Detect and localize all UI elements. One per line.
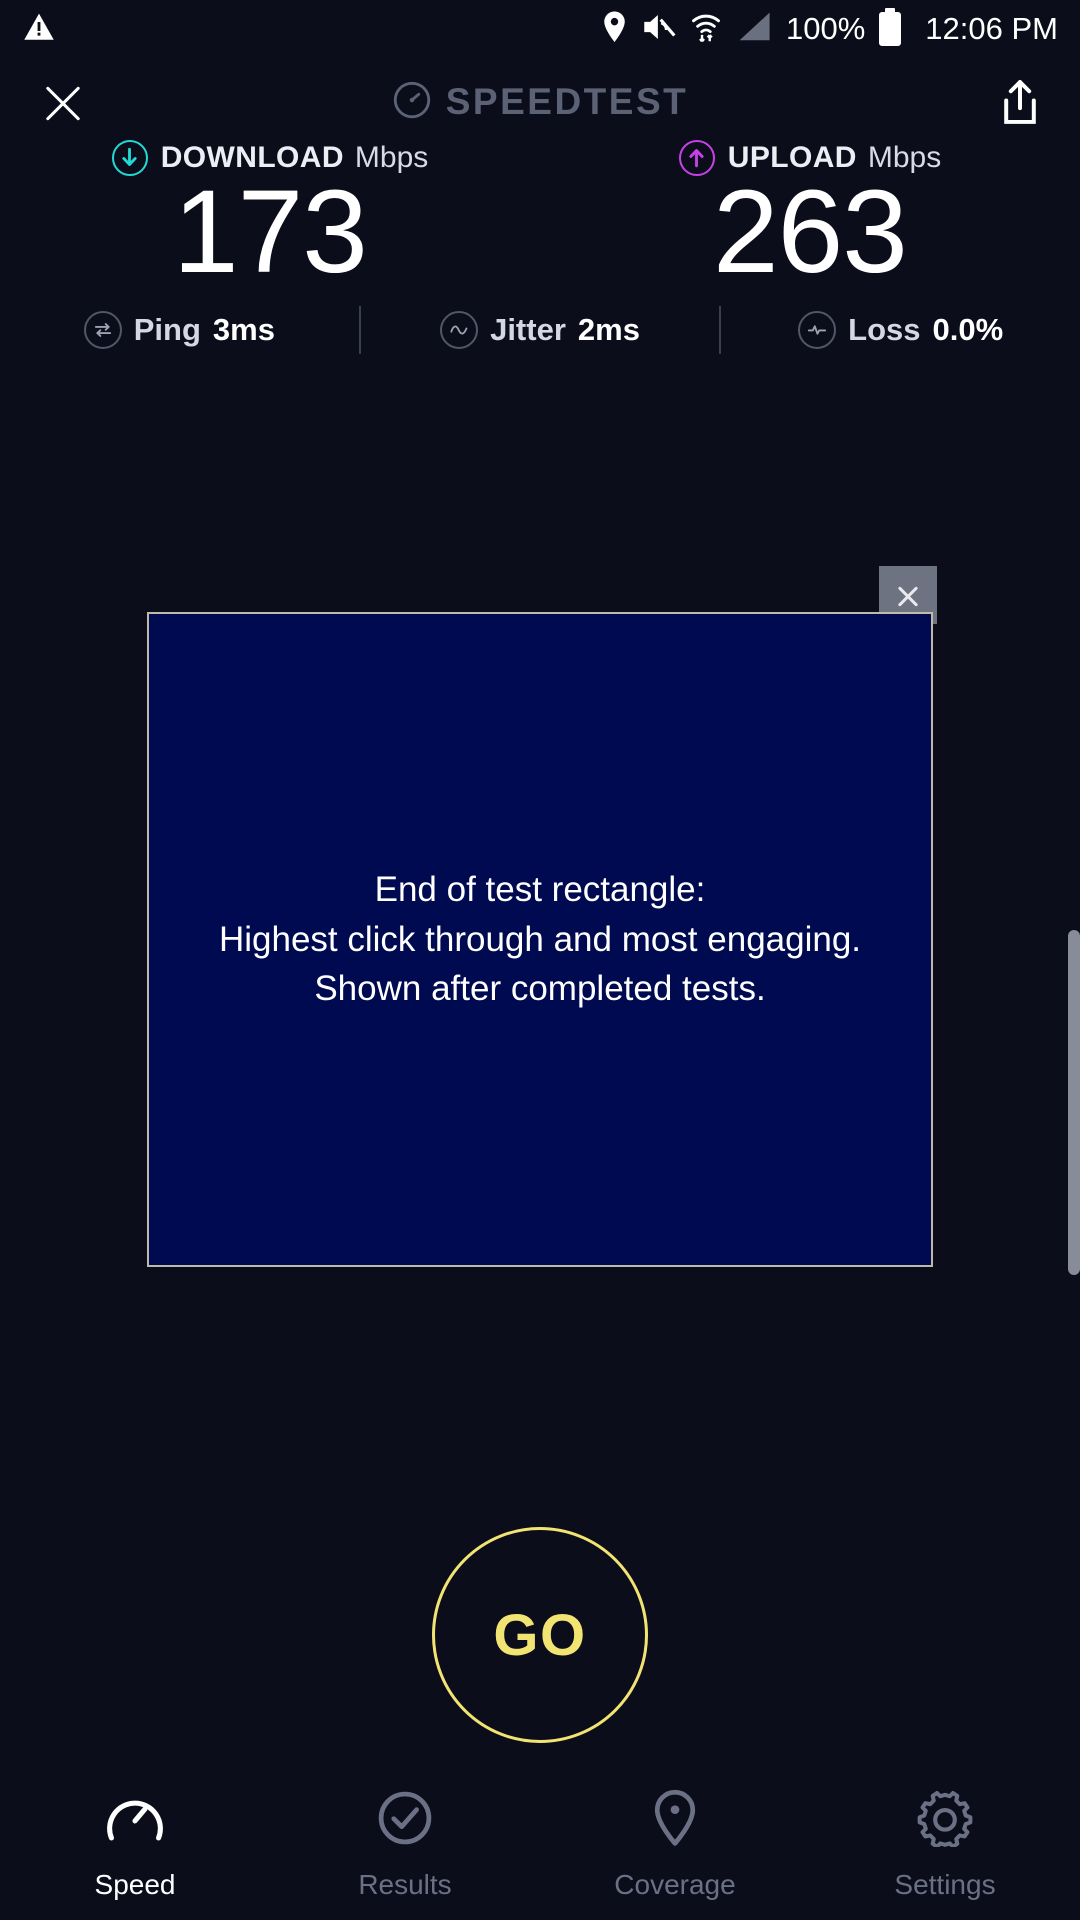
- status-bar-right: 100% 12:06 PM: [601, 10, 1058, 49]
- battery-full-icon: [879, 12, 901, 46]
- warning-triangle-icon: [22, 10, 56, 49]
- nav-item-coverage-label: Coverage: [614, 1869, 735, 1901]
- download-result: DOWNLOAD Mbps 173: [0, 140, 540, 294]
- advertisement-text: End of test rectangle: Highest click thr…: [219, 865, 861, 1014]
- metric-ping-label: Ping: [134, 312, 201, 348]
- nav-item-coverage[interactable]: Coverage: [540, 1770, 810, 1920]
- metric-jitter-value: 2ms: [578, 312, 640, 348]
- metric-jitter-label: Jitter: [490, 312, 566, 348]
- gear-icon: [916, 1789, 974, 1852]
- scrollbar-thumb[interactable]: [1068, 930, 1080, 1275]
- status-bar-clock: 12:06 PM: [925, 11, 1058, 47]
- nav-item-speed-label: Speed: [95, 1869, 176, 1901]
- metric-ping-value: 3ms: [213, 312, 275, 348]
- close-icon: [895, 582, 921, 608]
- nav-item-results[interactable]: Results: [270, 1770, 540, 1920]
- nav-item-settings[interactable]: Settings: [810, 1770, 1080, 1920]
- mute-icon: [642, 11, 676, 48]
- advertisement-banner[interactable]: End of test rectangle: Highest click thr…: [147, 612, 933, 1267]
- speedometer-icon: [104, 1789, 166, 1852]
- upload-speed-value: 263: [713, 172, 907, 294]
- share-icon[interactable]: [1000, 79, 1040, 125]
- wifi-icon: [690, 10, 722, 49]
- battery-percent-label: 100%: [786, 11, 865, 47]
- status-bar-left: [22, 10, 56, 49]
- status-bar: 100% 12:06 PM: [0, 0, 1080, 58]
- download-speed-value: 173: [173, 172, 367, 294]
- map-pin-icon: [650, 1789, 700, 1852]
- nav-item-settings-label: Settings: [894, 1869, 995, 1901]
- jitter-wave-icon: [440, 311, 478, 349]
- go-button-label: GO: [493, 1602, 586, 1669]
- close-icon[interactable]: [40, 79, 86, 125]
- cellular-signal-icon: [736, 10, 772, 49]
- go-button[interactable]: GO: [432, 1527, 648, 1743]
- check-circle-icon: [376, 1789, 434, 1852]
- speedtest-app-screen: 100% 12:06 PM SPEEDTEST: [0, 0, 1080, 1920]
- arrow-up-circle-icon: [679, 140, 715, 176]
- brand-title: SPEEDTEST: [446, 81, 689, 123]
- metric-loss: Loss 0.0%: [721, 311, 1080, 349]
- arrow-down-circle-icon: [112, 140, 148, 176]
- loss-pulse-icon: [798, 311, 836, 349]
- speedometer-icon: [392, 80, 432, 125]
- bottom-navigation: Speed Results Coverage: [0, 1770, 1080, 1920]
- brand-logo: SPEEDTEST: [0, 80, 1080, 125]
- nav-item-speed[interactable]: Speed: [0, 1770, 270, 1920]
- speed-results: DOWNLOAD Mbps 173 UPLOAD Mbps 263: [0, 140, 1080, 294]
- location-pin-icon: [601, 10, 628, 49]
- upload-result: UPLOAD Mbps 263: [540, 140, 1080, 294]
- metric-loss-label: Loss: [848, 312, 920, 348]
- metric-jitter: Jitter 2ms: [361, 311, 720, 349]
- app-header: SPEEDTEST: [0, 58, 1080, 146]
- ping-arrows-icon: [84, 311, 122, 349]
- metric-loss-value: 0.0%: [933, 312, 1004, 348]
- metrics-row: Ping 3ms Jitter 2ms Loss 0.0%: [0, 302, 1080, 358]
- nav-item-results-label: Results: [358, 1869, 451, 1901]
- metric-ping: Ping 3ms: [0, 311, 359, 349]
